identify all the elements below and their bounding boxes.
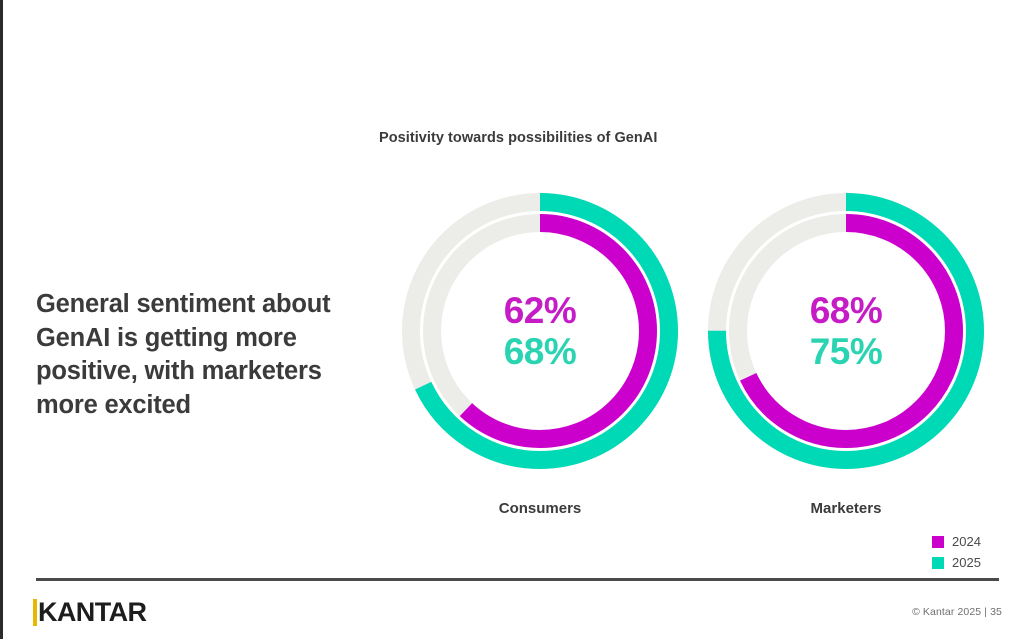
- category-label-marketers: Marketers: [701, 500, 991, 517]
- legend-item-2025: 2025: [932, 555, 981, 570]
- category-label-consumers: Consumers: [395, 500, 685, 517]
- slide: General sentiment about GenAI is getting…: [0, 0, 1024, 639]
- legend-label-2025: 2025: [952, 555, 981, 570]
- legend-swatch-2025-icon: [932, 557, 944, 569]
- kantar-logo-k: K: [33, 597, 57, 628]
- kantar-logo-text: ANTAR: [57, 597, 146, 628]
- copyright-text: © Kantar 2025 | 35: [912, 606, 1002, 618]
- footer-divider: [36, 578, 999, 581]
- donut-chart-marketers: 68% 75%: [701, 186, 991, 476]
- kantar-logo: KANTAR: [33, 597, 146, 628]
- donut-svg-consumers: [395, 186, 685, 476]
- page-title: General sentiment about GenAI is getting…: [36, 288, 366, 423]
- donut-svg-marketers: [701, 186, 991, 476]
- legend-item-2024: 2024: [932, 534, 981, 549]
- donut-chart-consumers: 62% 68%: [395, 186, 685, 476]
- chart-legend: 2024 2025: [932, 534, 981, 570]
- legend-label-2024: 2024: [952, 534, 981, 549]
- chart-title: Positivity towards possibilities of GenA…: [379, 130, 657, 146]
- legend-swatch-2024-icon: [932, 536, 944, 548]
